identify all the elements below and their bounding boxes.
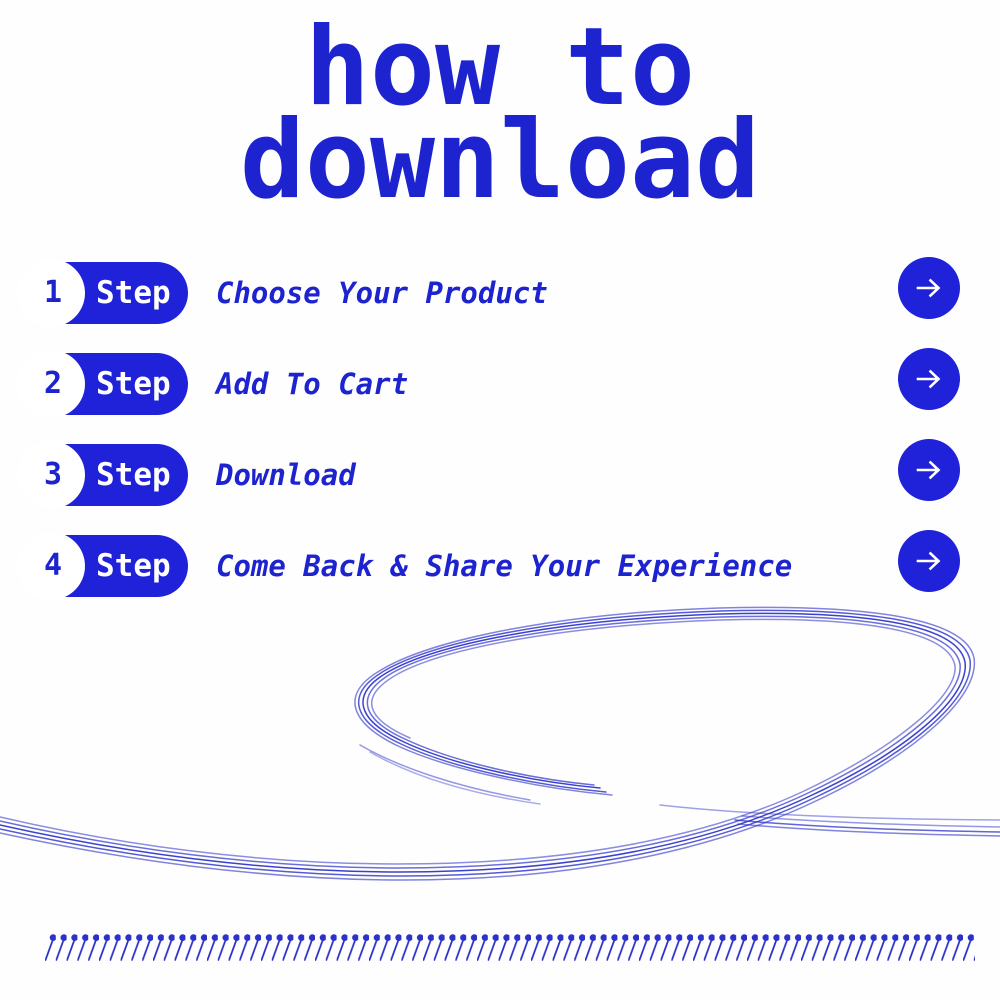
pin-dot-diagonal-border xyxy=(45,930,975,966)
step-number: 2 xyxy=(36,353,70,415)
step-row[interactable]: 4 Step Come Back & Share Your Experience xyxy=(0,523,1000,614)
step-row[interactable]: 2 Step Add To Cart xyxy=(0,341,1000,432)
step-arrow-button[interactable] xyxy=(898,348,960,410)
step-badge-label: Step xyxy=(96,535,171,597)
step-row[interactable]: 1 Step Choose Your Product xyxy=(0,250,1000,341)
step-arrow-button[interactable] xyxy=(898,530,960,592)
step-badge-label: Step xyxy=(96,262,171,324)
step-badge-label: Step xyxy=(96,353,171,415)
hand-drawn-loop-scribble xyxy=(0,590,1000,910)
poster-canvas: how to download 1 Step Choose Your Produ… xyxy=(0,0,1000,1000)
steps-list: 1 Step Choose Your Product 2 Step Add To… xyxy=(0,250,1000,614)
step-arrow-button[interactable] xyxy=(898,257,960,319)
step-number: 3 xyxy=(36,444,70,506)
step-badge-label: Step xyxy=(96,444,171,506)
step-number: 1 xyxy=(36,262,70,324)
step-description: Download xyxy=(216,444,356,506)
page-title-line-2: download xyxy=(0,115,1000,208)
step-row[interactable]: 3 Step Download xyxy=(0,432,1000,523)
step-arrow-button[interactable] xyxy=(898,439,960,501)
page-title: how to download xyxy=(0,22,1000,208)
step-description: Come Back & Share Your Experience xyxy=(216,535,792,597)
step-number: 4 xyxy=(36,535,70,597)
step-description: Choose Your Product xyxy=(216,262,548,324)
step-description: Add To Cart xyxy=(216,353,408,415)
